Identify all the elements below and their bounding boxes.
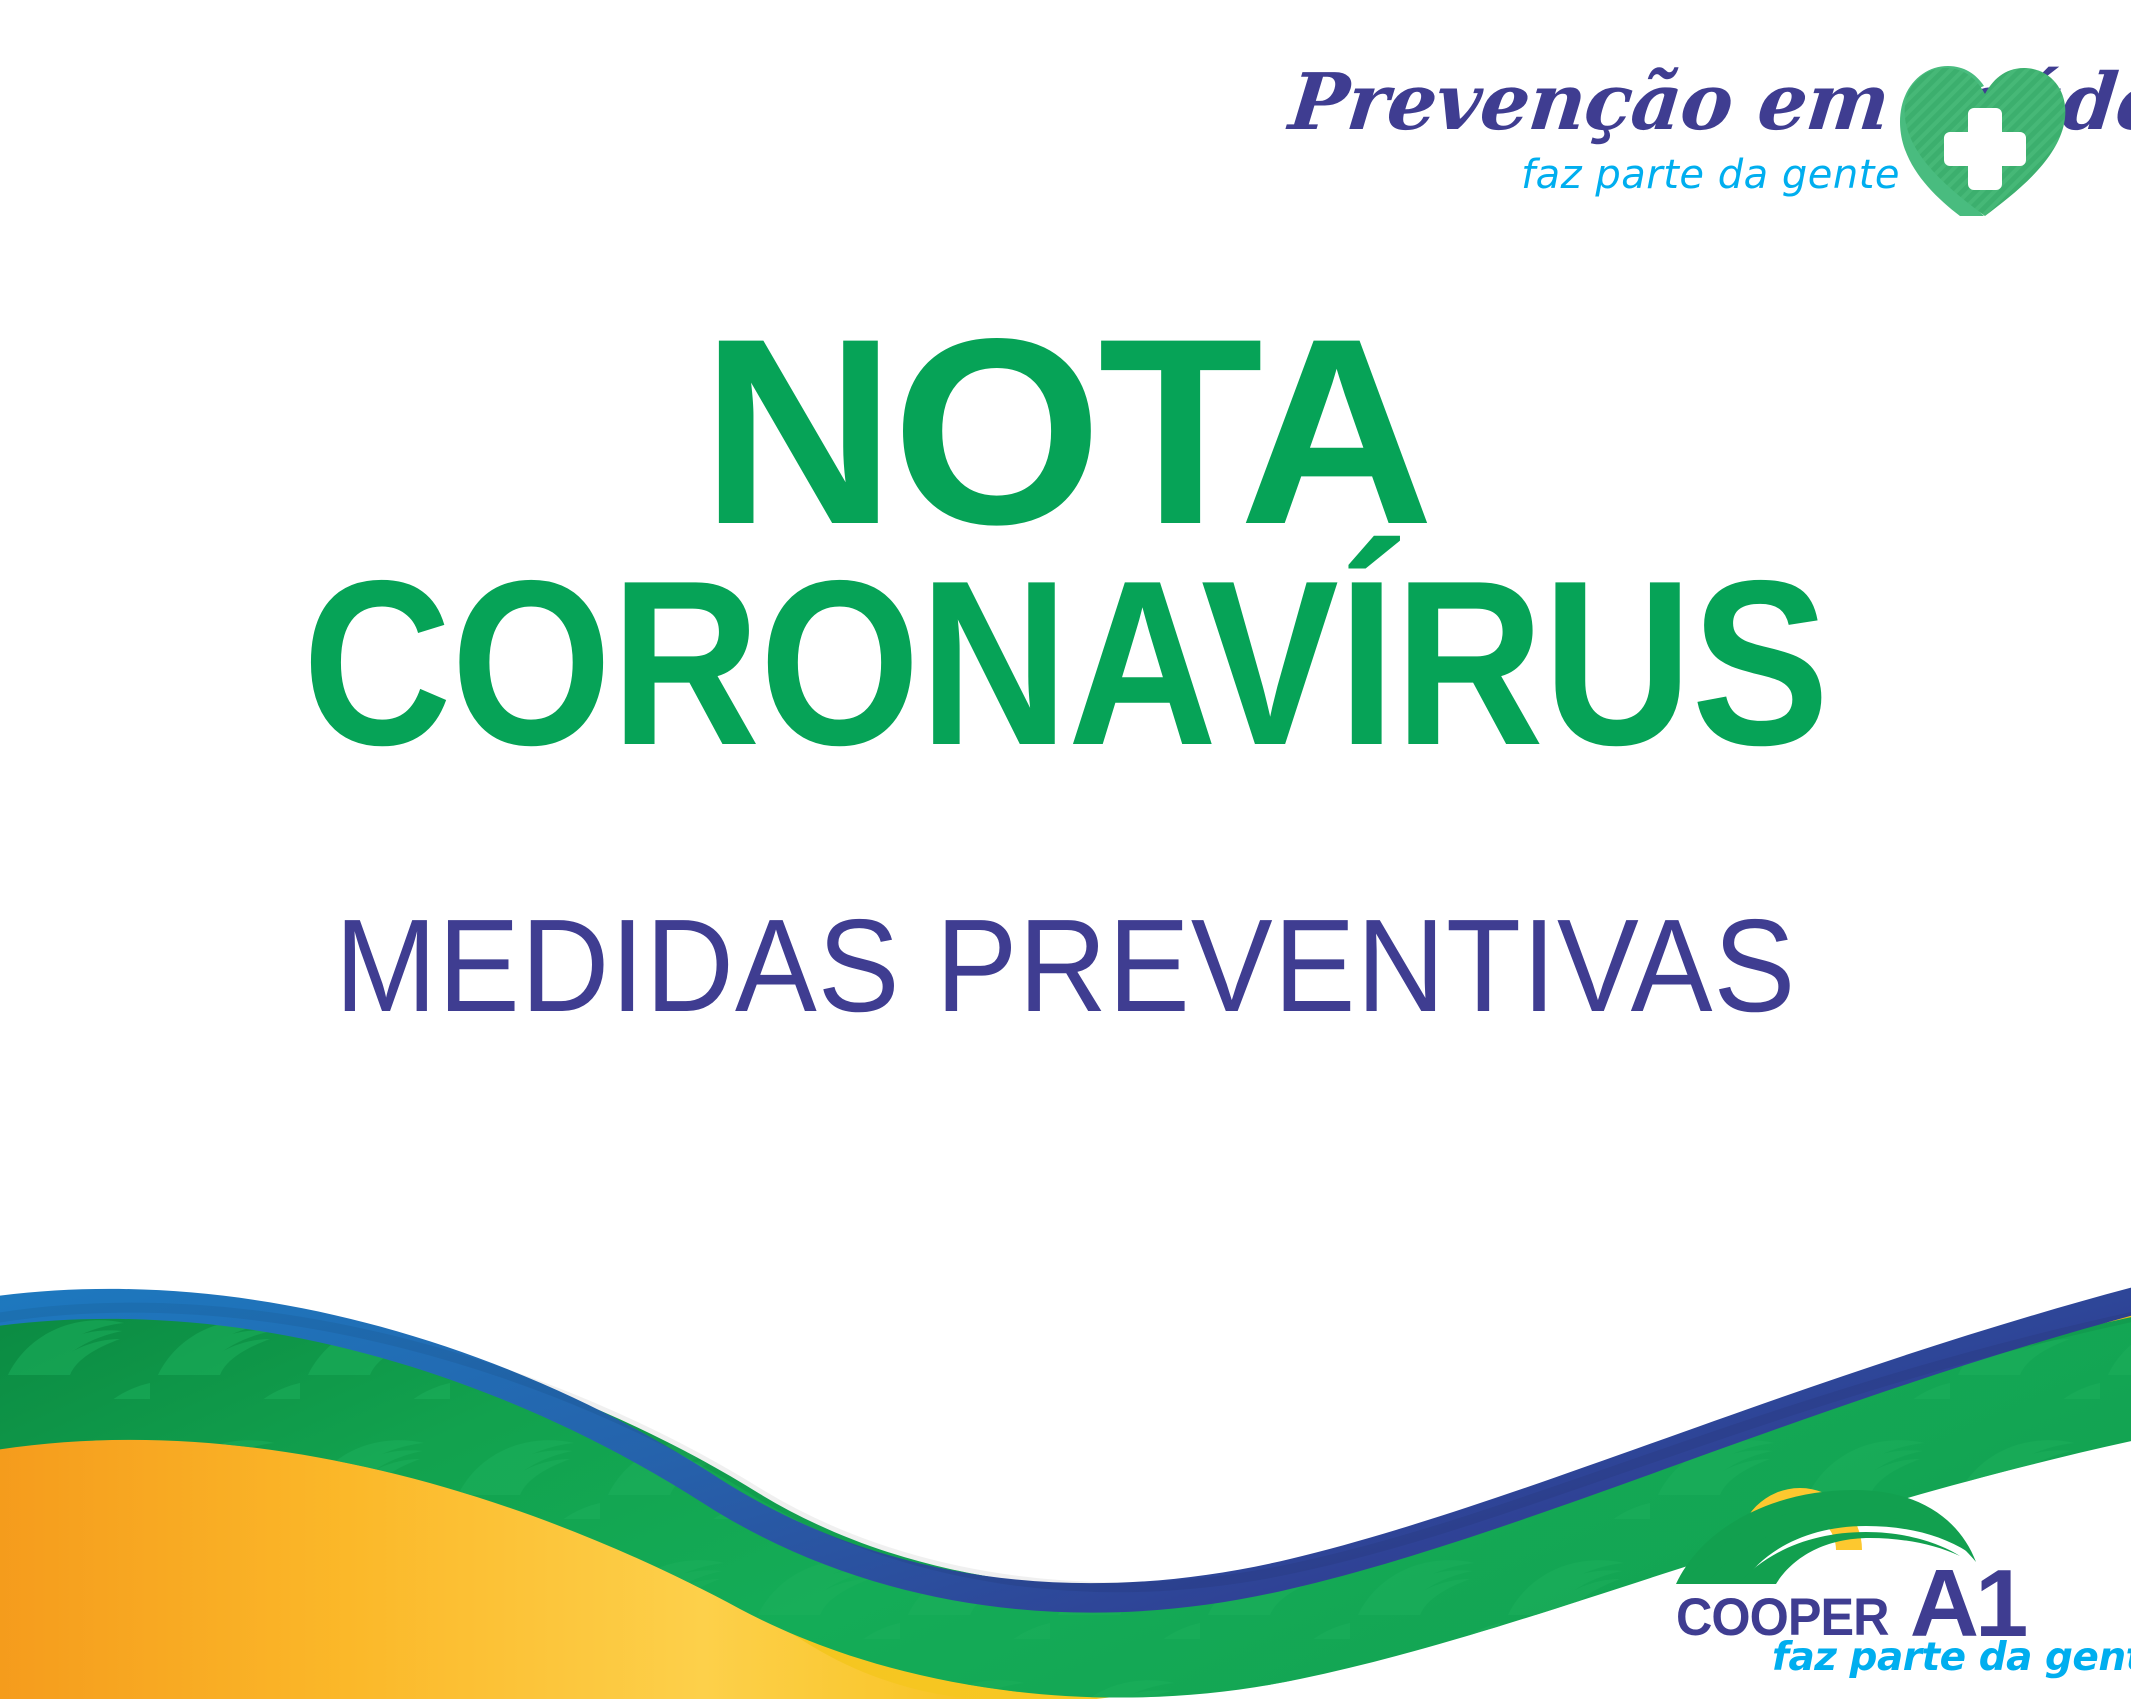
page-title-line-1: NOTA [0,300,2131,565]
header-brand-lockup: Prevenção em saúde faz parte da gente [1290,28,2090,208]
logo-name-suffix: A1 [1910,1565,2025,1644]
logo-tagline: faz parte da gente [1772,1638,2102,1677]
heart-with-medical-cross-icon [1898,56,2073,221]
header-brand-tagline: faz parte da gente [1290,152,1900,198]
page-subtitle: MEDIDAS PREVENTIVAS [75,900,2057,1032]
cooper-a1-logo: COOPER A1 faz parte da gente [1676,1432,2096,1682]
poster-canvas: Prevenção em saúde faz parte da gente [0,0,2131,1699]
sun-over-hills-icon [1676,1432,2096,1602]
page-title-line-2: CORONAVÍRUS [128,545,2003,780]
header-brand-script: Prevenção em saúde [1286,68,1903,138]
